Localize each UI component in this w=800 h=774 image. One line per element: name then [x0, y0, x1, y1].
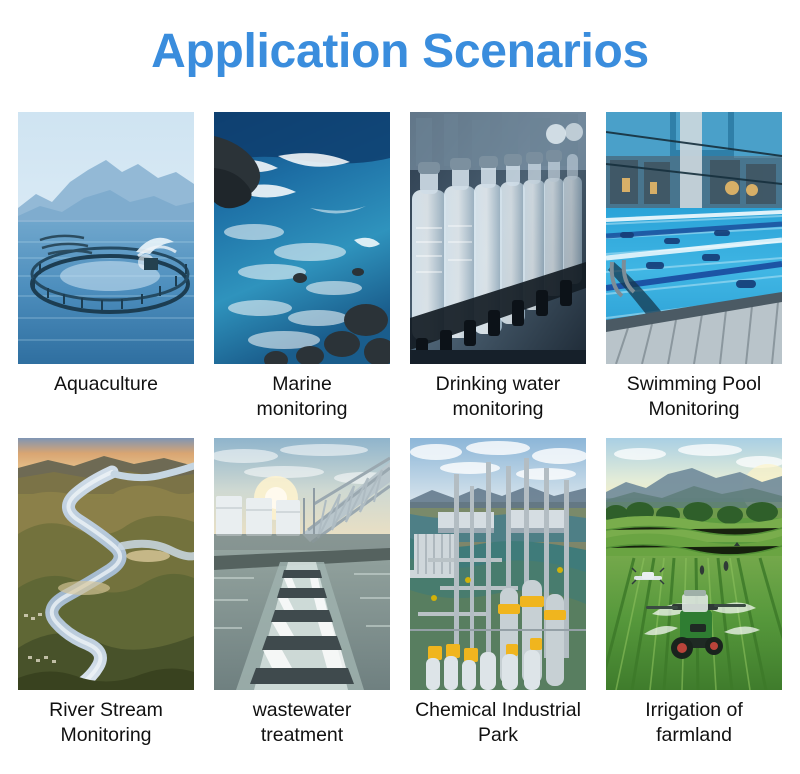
caption-line: Chemical Industrial: [405, 698, 591, 723]
caption-line: treatment: [209, 723, 395, 748]
swimming-pool-monitoring-photo: [606, 112, 782, 364]
application-scenarios-page: Application Scenarios: [0, 0, 800, 774]
caption-line: River Stream: [13, 698, 199, 723]
wastewater-treatment-photo: [214, 438, 390, 690]
caption-line: Park: [405, 723, 591, 748]
caption-line: Swimming Pool: [601, 372, 787, 397]
scenario-card-drinking-water-monitoring[interactable]: Drinking water monitoring: [400, 112, 596, 422]
page-title: Application Scenarios: [0, 22, 800, 82]
scenario-caption-irrigation-of-farmland: Irrigation of farmland: [601, 698, 787, 748]
caption-line: Marine: [209, 372, 395, 397]
scenario-grid: Aquaculture: [0, 112, 800, 764]
irrigation-of-farmland-photo: [606, 438, 782, 690]
scenario-caption-chemical-industrial-park: Chemical Industrial Park: [405, 698, 591, 748]
scenario-card-swimming-pool-monitoring[interactable]: Swimming Pool Monitoring: [596, 112, 792, 422]
scenario-row-1: Aquaculture: [0, 112, 800, 438]
river-stream-monitoring-photo: [18, 438, 194, 690]
caption-line: Monitoring: [13, 723, 199, 748]
caption-line: monitoring: [209, 397, 395, 422]
scenario-card-aquaculture[interactable]: Aquaculture: [8, 112, 204, 397]
scenario-card-chemical-industrial-park[interactable]: Chemical Industrial Park: [400, 438, 596, 748]
caption-line: Aquaculture: [13, 372, 199, 397]
scenario-caption-drinking-water-monitoring: Drinking water monitoring: [405, 372, 591, 422]
scenario-card-marine-monitoring[interactable]: Marine monitoring: [204, 112, 400, 422]
scenario-card-wastewater-treatment[interactable]: wastewater treatment: [204, 438, 400, 748]
caption-line: Irrigation of: [601, 698, 787, 723]
aquaculture-photo: [18, 112, 194, 364]
scenario-card-irrigation-of-farmland[interactable]: Irrigation of farmland: [596, 438, 792, 748]
scenario-caption-river-stream-monitoring: River Stream Monitoring: [13, 698, 199, 748]
caption-line: Drinking water: [405, 372, 591, 397]
caption-line: Monitoring: [601, 397, 787, 422]
scenario-caption-wastewater-treatment: wastewater treatment: [209, 698, 395, 748]
scenario-caption-swimming-pool-monitoring: Swimming Pool Monitoring: [601, 372, 787, 422]
caption-line: farmland: [601, 723, 787, 748]
marine-monitoring-photo: [214, 112, 390, 364]
chemical-industrial-park-photo: [410, 438, 586, 690]
scenario-caption-marine-monitoring: Marine monitoring: [209, 372, 395, 422]
scenario-row-2: River Stream Monitoring: [0, 438, 800, 764]
caption-line: monitoring: [405, 397, 591, 422]
scenario-card-river-stream-monitoring[interactable]: River Stream Monitoring: [8, 438, 204, 748]
drinking-water-monitoring-photo: [410, 112, 586, 364]
caption-line: wastewater: [209, 698, 395, 723]
scenario-caption-aquaculture: Aquaculture: [13, 372, 199, 397]
